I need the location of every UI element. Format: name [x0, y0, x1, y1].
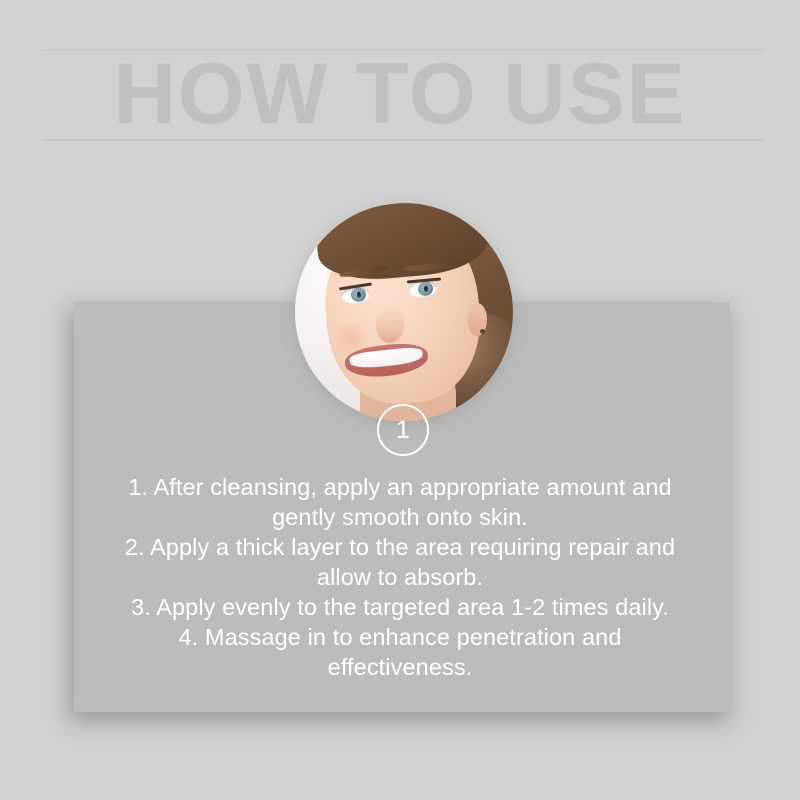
instruction-line: 3. Apply evenly to the targeted area 1-2…	[120, 592, 680, 622]
instruction-line: allow to absorb.	[120, 562, 680, 592]
portrait-illustration	[295, 203, 513, 421]
instruction-line: effectiveness.	[120, 652, 680, 682]
instruction-line: 4. Massage in to enhance penetration and	[120, 622, 680, 652]
instruction-list: 1. After cleansing, apply an appropriate…	[120, 472, 680, 682]
step-number-label: 1	[396, 418, 410, 443]
iris-left	[350, 287, 367, 303]
teeth	[349, 346, 423, 370]
nose	[376, 308, 404, 343]
step-number-badge: 1	[377, 404, 429, 456]
pupil-right	[424, 286, 429, 293]
pupil-left	[356, 291, 361, 298]
title-rule-bottom	[42, 139, 763, 142]
header-band: HOW TO USE	[0, 0, 800, 190]
instruction-line: 1. After cleansing, apply an appropriate…	[120, 472, 680, 502]
instruction-line: 2. Apply a thick layer to the area requi…	[120, 532, 680, 562]
page-title: HOW TO USE	[0, 50, 800, 138]
portrait-avatar	[295, 203, 513, 421]
instruction-line: gently smooth onto skin.	[120, 502, 680, 532]
